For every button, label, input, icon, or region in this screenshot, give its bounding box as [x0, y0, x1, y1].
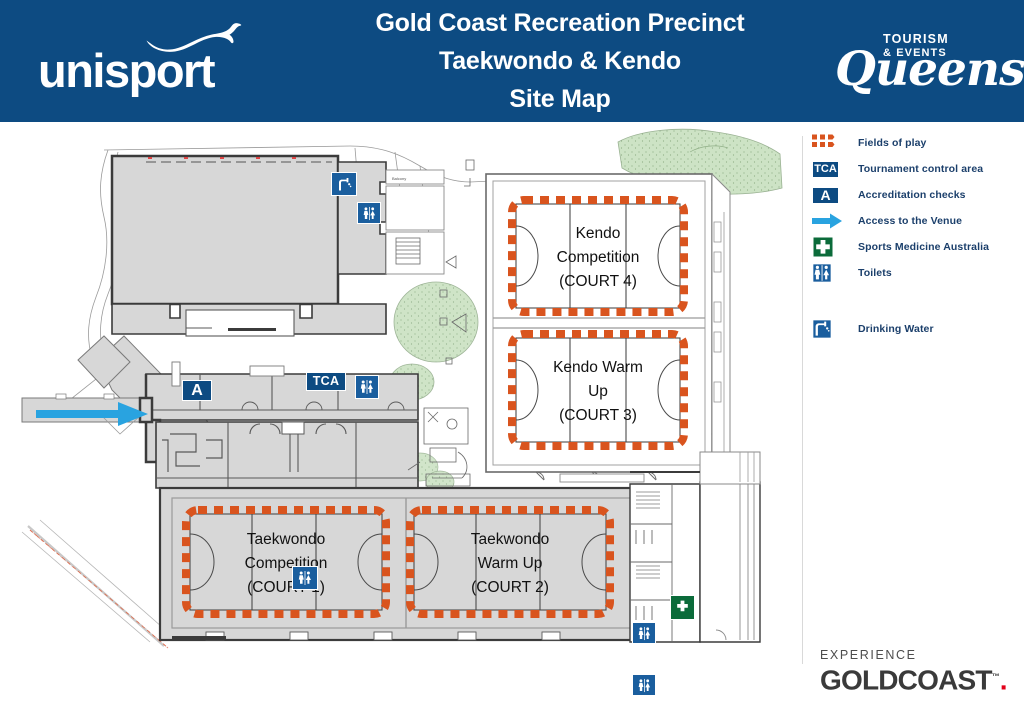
court-4-line-3: (COURT 4) [516, 270, 680, 294]
accreditation-badge-icon: A [812, 185, 848, 205]
unisport-logo: unisport [38, 24, 238, 94]
gc-red-dot: . [1000, 664, 1007, 695]
gc-goldcoast-text: GOLDCOAST™. [820, 662, 1010, 695]
access-arrow-icon [812, 211, 848, 231]
legend-divider [802, 136, 803, 664]
court-4-line-2: Competition [516, 246, 680, 270]
court-3-line-3: (COURT 3) [510, 404, 686, 428]
page-title: Gold Coast Recreation Precinct Taekwondo… [300, 4, 820, 118]
toilets-map-marker-north-east[interactable] [357, 202, 381, 224]
gc-experience-text: EXPERIENCE [820, 648, 1010, 662]
legend-label-fields-of-play: Fields of play [858, 137, 927, 149]
legend-label-accreditation-checks: Accreditation checks [858, 189, 966, 201]
east-corridor [712, 174, 730, 478]
lower-service-strip [112, 304, 386, 336]
title-line-1: Gold Coast Recreation Precinct [300, 4, 820, 42]
main-hall-building [112, 156, 338, 304]
page-header: unisport Gold Coast Recreation Precinct … [0, 0, 1024, 122]
accreditation-map-marker[interactable]: A [182, 380, 212, 401]
toilets-icon [297, 570, 313, 586]
court-4-line-1: Kendo [516, 222, 680, 246]
legend-item-accreditation-checks: A Accreditation checks [812, 182, 1024, 208]
toilets-map-marker-east-upper[interactable] [632, 622, 656, 644]
court-2-line-3: (COURT 2) [414, 576, 606, 600]
legend-item-fields-of-play: Fields of play [812, 130, 1024, 156]
tourism-label: TOURISM [883, 33, 949, 46]
court-2-line-1: Taekwondo [414, 528, 606, 552]
toilets-icon [637, 678, 652, 693]
gc-trademark: ™ [992, 672, 1000, 681]
court-2-line-2: Warm Up [414, 552, 606, 576]
court-1-line-1: Taekwondo [190, 528, 382, 552]
drinking-water-icon [812, 319, 848, 339]
toilets-icon [812, 263, 848, 283]
svg-text:Balcony: Balcony [392, 176, 406, 181]
legend-label-toilets: Toilets [858, 267, 892, 279]
medical-cross-icon [812, 237, 848, 257]
toilets-map-marker-east-lower[interactable] [632, 674, 656, 696]
tca-map-marker[interactable]: TCA [306, 372, 346, 391]
toilets-icon [359, 379, 375, 395]
court-1-line-3: (COURT 1) [190, 576, 382, 600]
court-2-label: Taekwondo Warm Up (COURT 2) [414, 528, 606, 600]
legend-spacer [812, 286, 1024, 316]
changeroom-block [156, 422, 418, 488]
site-map[interactable]: Balcony [0, 122, 802, 709]
drinking-water-map-marker[interactable] [331, 172, 357, 196]
legend-item-drinking-water: Drinking Water [812, 316, 1024, 342]
drinking-water-icon [336, 176, 353, 193]
toilets-map-marker-north[interactable] [355, 375, 379, 399]
medical-cross-icon [674, 599, 691, 616]
toilets-icon [362, 206, 377, 221]
toilets-map-marker-centre[interactable] [292, 566, 318, 590]
unisport-wordmark: unisport [38, 48, 214, 94]
toilets-icon [637, 626, 652, 641]
court-3-line-1: Kendo Warm [510, 356, 686, 380]
kendo-hall [486, 174, 722, 482]
legend-label-drinking-water: Drinking Water [858, 323, 934, 335]
tca-badge-text: TCA [812, 161, 839, 178]
accreditation-badge-text: A [812, 187, 839, 204]
legend-label-tournament-control-area: Tournament control area [858, 163, 983, 175]
experience-gold-coast-logo: EXPERIENCE GOLDCOAST™. [820, 648, 1010, 695]
court-3-label: Kendo Warm Up (COURT 3) [510, 356, 686, 428]
title-line-3: Site Map [300, 80, 820, 118]
legend-label-access-to-venue: Access to the Venue [858, 215, 962, 227]
court-1-label: Taekwondo Competition (COURT 1) [190, 528, 382, 600]
gc-wordmark: GOLDCOAST [820, 664, 992, 695]
amenities-block [630, 452, 760, 642]
court-4-label: Kendo Competition (COURT 4) [516, 222, 680, 294]
legend-item-access-to-venue: Access to the Venue [812, 208, 1024, 234]
court-3-line-2: Up [510, 380, 686, 404]
tourism-events-queensland-logo: Queensland TOURISM & EVENTS [835, 26, 1015, 100]
events-label: & EVENTS [883, 47, 947, 59]
title-line-2: Taekwondo & Kendo [300, 42, 820, 80]
sports-medicine-map-marker[interactable] [670, 595, 695, 620]
fields-of-play-icon [812, 133, 848, 153]
legend-item-sports-medicine: Sports Medicine Australia [812, 234, 1024, 260]
legend-label-sports-medicine: Sports Medicine Australia [858, 241, 989, 253]
court-1-line-2: Competition [190, 552, 382, 576]
legend-panel: Fields of play TCA Tournament control ar… [812, 130, 1024, 342]
legend-item-toilets: Toilets [812, 260, 1024, 286]
tca-badge-icon: TCA [812, 159, 848, 179]
legend-item-tournament-control-area: TCA Tournament control area [812, 156, 1024, 182]
